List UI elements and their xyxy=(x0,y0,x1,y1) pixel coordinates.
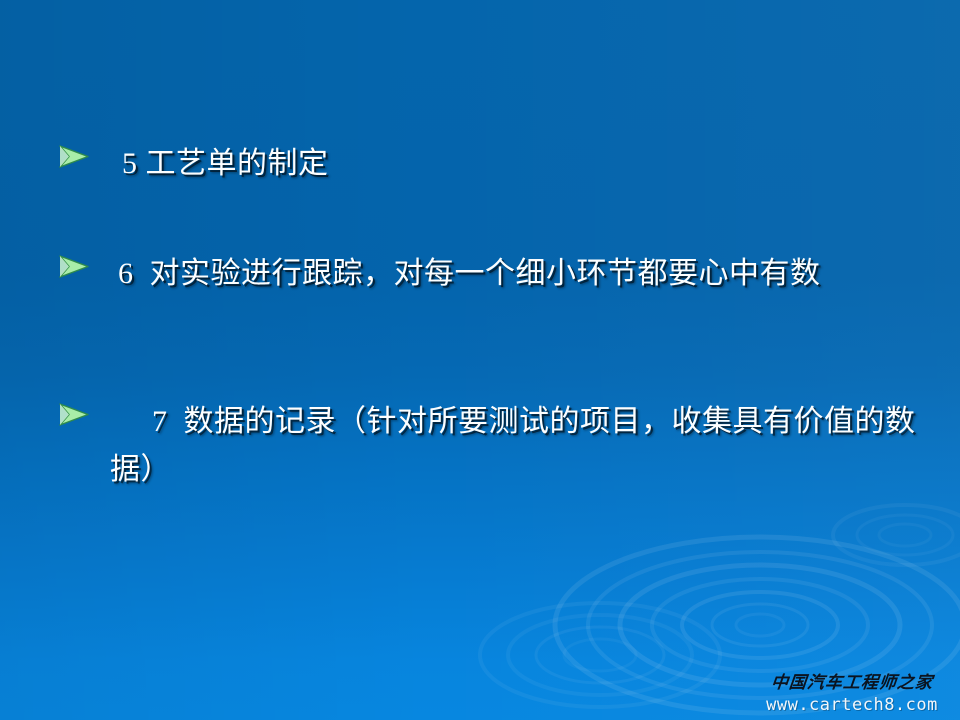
presentation-slide: 5 工艺单的制定 6 对实验进行跟踪，对每一个细小环节都要心中有数 7 数据的记… xyxy=(0,0,960,720)
green-arrow-bullet-icon xyxy=(56,250,96,284)
bullet-item: 5 工艺单的制定 xyxy=(56,140,956,188)
green-arrow-bullet-icon xyxy=(56,398,96,432)
bullet-item: 7 数据的记录（针对所要测试的项目，收集具有价值的数据） xyxy=(56,398,956,494)
bullet-text: 5 工艺单的制定 xyxy=(122,140,956,188)
green-arrow-bullet-icon xyxy=(56,140,96,174)
slide-body: 5 工艺单的制定 6 对实验进行跟踪，对每一个细小环节都要心中有数 7 数据的记… xyxy=(0,0,960,720)
bullet-text: 6 对实验进行跟踪，对每一个细小环节都要心中有数 xyxy=(110,250,956,298)
bullet-text: 7 数据的记录（针对所要测试的项目，收集具有价值的数据） xyxy=(110,398,956,494)
bullet-item: 6 对实验进行跟踪，对每一个细小环节都要心中有数 xyxy=(56,250,956,298)
